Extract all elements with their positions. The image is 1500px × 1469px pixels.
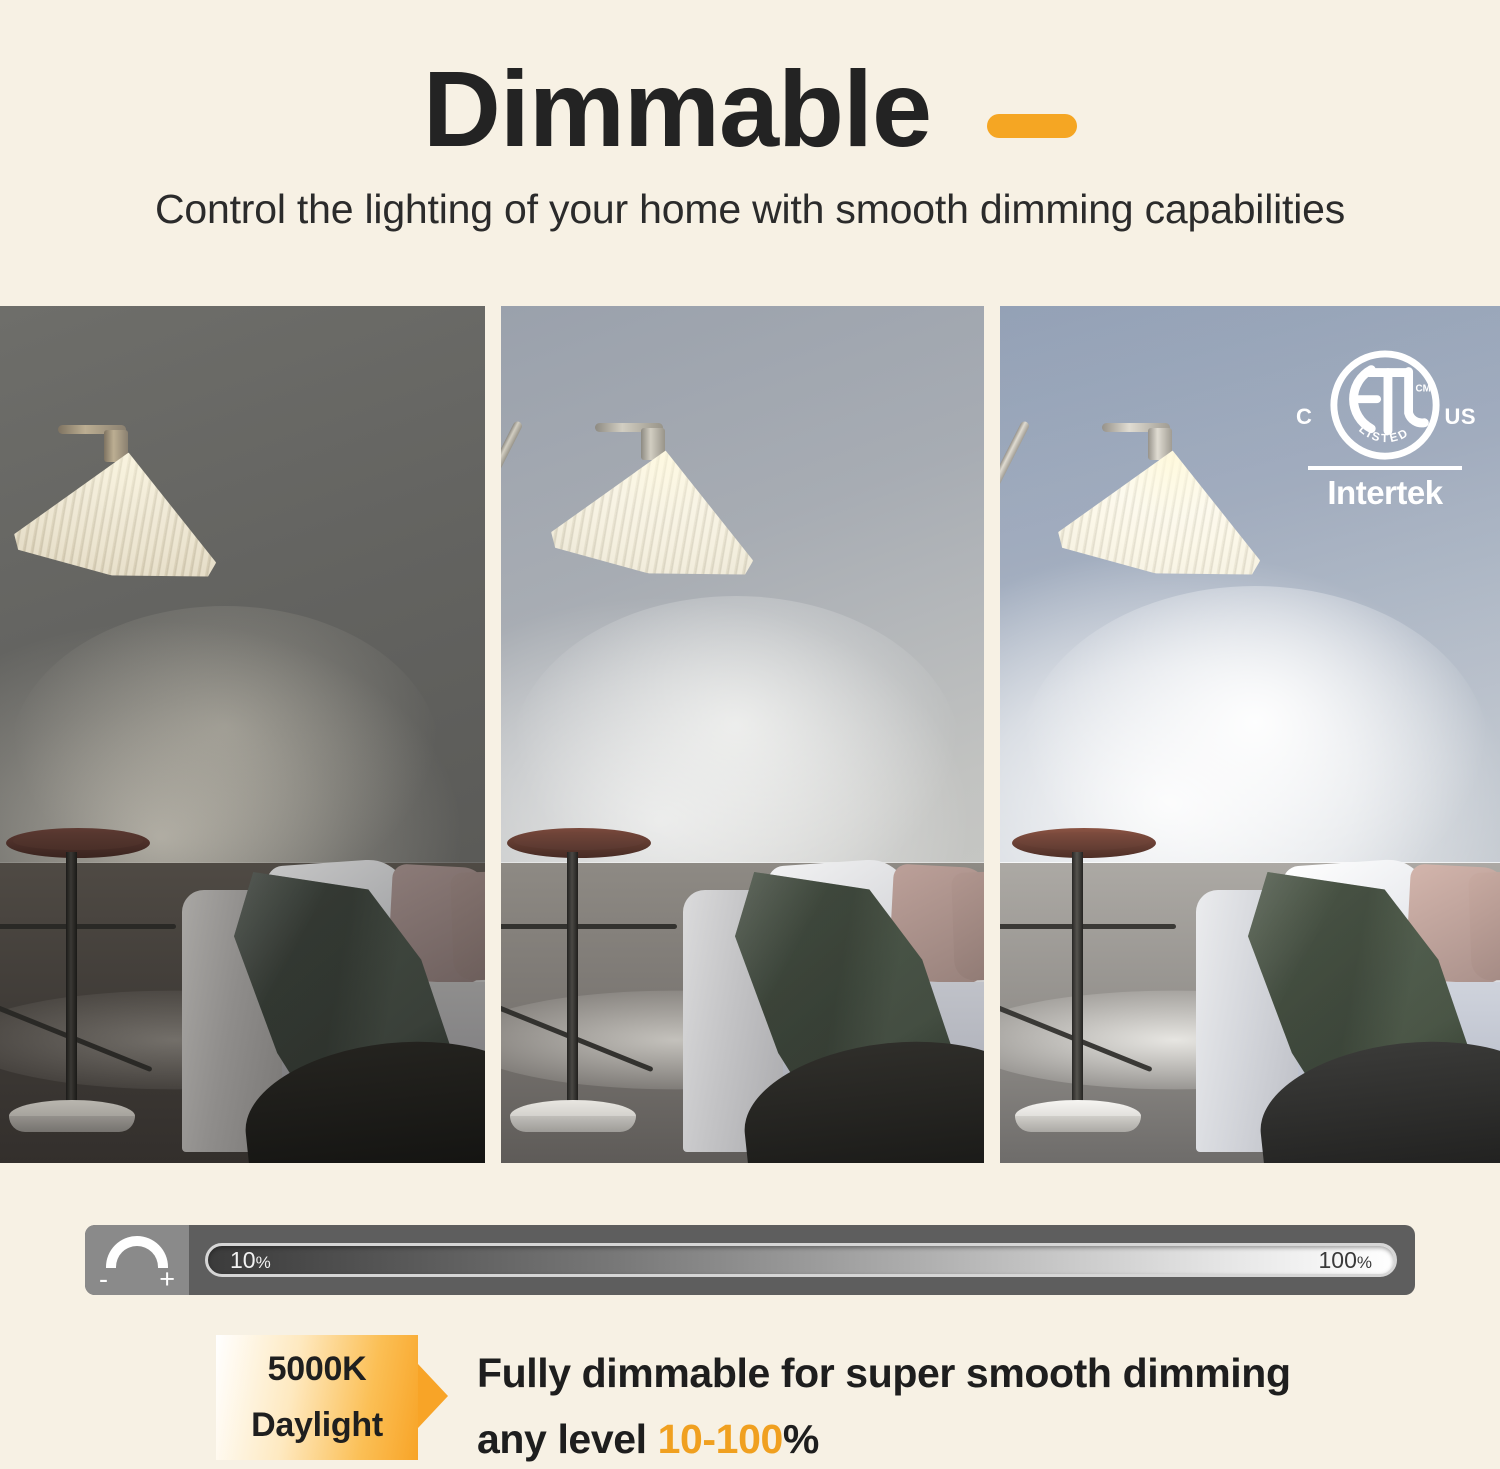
etl-region-us: US	[1444, 404, 1476, 430]
feature-caption: Fully dimmable for super smooth dimming …	[477, 1340, 1437, 1469]
etl-listed-icon: CM LISTED	[1326, 348, 1444, 466]
room-photo-mid	[501, 306, 984, 1163]
rail	[1000, 924, 1176, 929]
etl-divider	[1308, 466, 1462, 470]
decrease-brightness-label[interactable]: -	[99, 1266, 108, 1293]
dimmable-feature-graphic: Dimmable Control the lighting of your ho…	[0, 0, 1500, 1469]
caption-line-2: any level 10-100%	[477, 1406, 1437, 1469]
side-table-top	[1012, 828, 1156, 858]
etl-brand-name: Intertek	[1292, 474, 1478, 512]
kelvin-name: Daylight	[251, 1406, 383, 1445]
dimmer-knob[interactable]: - +	[85, 1225, 189, 1295]
slider-max-label: 100%	[1319, 1247, 1373, 1274]
caption-prefix: any level	[477, 1416, 658, 1462]
dimmer-control[interactable]: - + 10% 100%	[85, 1225, 1415, 1295]
side-table-top	[507, 828, 651, 858]
lamp-arm-diagonal	[1000, 420, 1031, 602]
lamp-shade	[10, 438, 229, 589]
side-table-top	[6, 828, 150, 858]
rail	[501, 924, 677, 929]
caption-line-1: Fully dimmable for super smooth dimming	[477, 1340, 1437, 1406]
rail	[0, 924, 176, 929]
caption-suffix: %	[783, 1416, 819, 1462]
side-table-stem	[567, 852, 578, 1112]
side-table-stem	[1072, 852, 1083, 1112]
pillow-mauve-2	[951, 871, 984, 981]
brightness-slider-track[interactable]: 10% 100%	[205, 1243, 1397, 1277]
etl-certification-badge: CM LISTED C US Intertek	[1292, 348, 1478, 520]
slider-min-label: 10%	[230, 1247, 271, 1274]
pillow-mauve-2	[1468, 871, 1500, 981]
orange-dash-icon	[987, 114, 1077, 138]
room-photo-dim	[0, 306, 485, 1163]
page-subtitle: Control the lighting of your home with s…	[0, 186, 1500, 233]
header-section: Dimmable Control the lighting of your ho…	[0, 0, 1500, 300]
dimmer-track-wrapper: 10% 100%	[189, 1225, 1415, 1295]
lamp-arm-diagonal	[501, 420, 524, 602]
brightness-comparison-strip	[0, 306, 1500, 1163]
pillow-mauve-2	[450, 871, 485, 981]
caption-range: 10-100	[658, 1416, 783, 1462]
side-table-stem	[66, 852, 77, 1112]
etl-region-c: C	[1296, 404, 1312, 430]
title-row: Dimmable	[0, 52, 1500, 166]
color-temperature-badge: 5000K Daylight	[216, 1335, 418, 1460]
kelvin-value: 5000K	[268, 1350, 367, 1389]
page-title: Dimmable	[423, 52, 931, 166]
lamp-shade	[547, 436, 766, 587]
lamp-shade	[1054, 436, 1273, 587]
svg-text:CM: CM	[1415, 383, 1430, 394]
increase-brightness-label[interactable]: +	[159, 1266, 175, 1293]
badge-arrow-icon	[418, 1364, 448, 1428]
